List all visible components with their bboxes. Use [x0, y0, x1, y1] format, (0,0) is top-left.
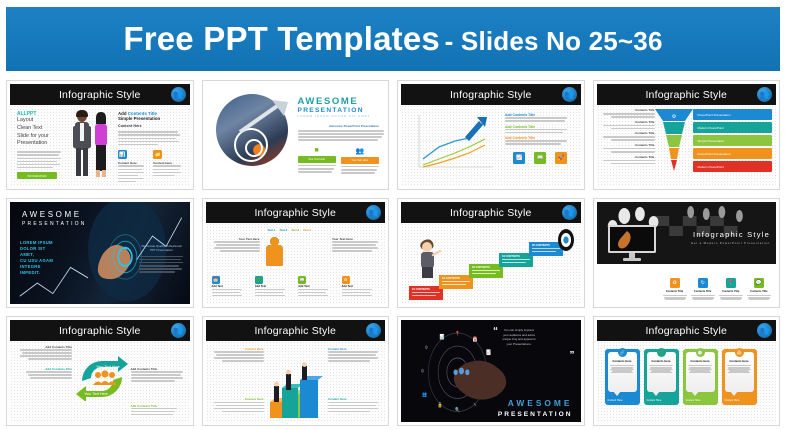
slide-title: Infographic Style	[59, 89, 141, 101]
slide5-headline-block: AWESOME PRESENTATION	[22, 210, 87, 227]
tab-text-1[interactable]: Text 1	[268, 228, 276, 232]
slide-title: Infographic Style	[450, 207, 532, 219]
slide8-subhead: Get a Modern PowerPoint Presentation	[691, 241, 770, 245]
slide5-right-block: We Create Quality Professional PPT Prese…	[139, 244, 185, 274]
slide10-label-4: Content Here	[328, 397, 380, 401]
funnel-right-label-5: Modern PowerPoint	[693, 161, 773, 172]
slide-title: Infographic Style	[254, 207, 336, 219]
tab-text-2[interactable]: Text 2	[279, 228, 287, 232]
book-icon[interactable]: 📖	[534, 152, 546, 164]
slide8-tile-label-4: Contents Title	[747, 290, 771, 294]
gear-icon: ⚙	[342, 276, 350, 284]
svg-text:🔍: 🔍	[455, 406, 460, 414]
slide10-label-block-3: Content Here	[212, 397, 264, 414]
quote-close-icon: ”	[570, 350, 575, 361]
slide-thumbnail-2[interactable]: AWESOME PRESENTATION LOREM IPSUM DOLOR S…	[202, 80, 390, 190]
svg-text:👥: 👥	[422, 391, 427, 398]
people-badge-icon: 👥	[171, 323, 186, 338]
slide9-top-left-block: Add Contents Title	[18, 345, 72, 362]
slide9-bottom-block: Add Contents Title	[131, 404, 185, 417]
slide-thumbnail-10[interactable]: Infographic Style 👥 Content Here Content…	[202, 316, 390, 426]
recycle-icon: ♻	[670, 278, 680, 288]
slide8-tile-1[interactable]: ♻ Contents Title	[663, 278, 687, 300]
step-banner-2: 02 CONTENTS	[439, 275, 473, 289]
slide-title-bar: Infographic Style 👥	[10, 84, 190, 105]
slide-thumbnail-5[interactable]: AWESOME PRESENTATION LOREM IPSUMDOLOR SI…	[6, 198, 194, 308]
page-title-sub: - Slides No 25~36	[445, 26, 663, 56]
rocket-icon[interactable]: 🚀	[555, 152, 567, 164]
people-icon: 👥	[341, 147, 379, 155]
people-illustration	[68, 108, 114, 184]
slide5-headline: AWESOME	[22, 210, 87, 219]
slide5-subhead: PRESENTATION	[22, 221, 87, 227]
folder-icon: 📁	[153, 150, 162, 159]
page-title-main: Free PPT Templates	[123, 20, 440, 57]
slide8-tile-label-1: Contents Title	[663, 290, 687, 294]
slide12-card-footer-3: Content Here	[686, 399, 701, 402]
slide6-tabs: Text 1 Text 2 Text 3 Text 4	[268, 228, 312, 232]
slide-title-bar: Infographic Style 👥	[597, 84, 777, 105]
line-chart-growth	[409, 111, 497, 177]
link-icon: 🔗	[618, 348, 627, 357]
funnel-right-label-3: Simple Presentation	[693, 135, 773, 146]
slide-title-bar: Infographic Style 👥	[206, 320, 386, 341]
slide12-card-title-4: Contents Here	[725, 360, 754, 364]
step-banner-1: 01 CONTENTS	[409, 286, 443, 300]
business-people-on-3d-bars	[264, 362, 326, 420]
slide2-button-2[interactable]: Your Text Here	[341, 157, 379, 164]
svg-text:📅: 📅	[473, 335, 478, 342]
slide-title-bar: Infographic Style 👥	[401, 202, 581, 223]
hand-pointing-photo: AWESOME PRESENTATION LOREM IPSUMDOLOR SI…	[10, 202, 190, 304]
bar-chart-icon[interactable]: 📈	[513, 152, 525, 164]
printer-icon: 🖨	[735, 348, 744, 357]
slide8-tile-4[interactable]: 💬 Contents Title	[747, 278, 771, 300]
cycle-arrows-diagram: Your Text Here Your Text Here	[74, 355, 130, 401]
slide11-quote: You can simply impress your audience and…	[501, 328, 537, 347]
slide8-tile-3[interactable]: 📍 Contents Title	[719, 278, 743, 300]
desktop-monitor-mockup	[607, 224, 657, 262]
funnel-shape: ⚙	[655, 109, 693, 171]
slide-title-bar: Infographic Style 👥	[206, 202, 386, 223]
slide6-left-block: Your Text Here	[212, 237, 260, 254]
step-banner-4: 04 CONTENTS	[499, 253, 533, 267]
slide8-headline-block: Infographic Style Get a Modern PowerPoin…	[691, 230, 770, 245]
slide12-card-title-3: Contents Here	[686, 360, 715, 364]
people-badge-icon: 👥	[366, 323, 381, 338]
slide9-mid-left-block: Add Contents Title	[18, 367, 72, 380]
speech-bubble: 🖨 Contents Here	[725, 352, 754, 392]
slide12-card-footer-1: Content Here	[608, 399, 623, 402]
slide12-card-footer-4: Content Here	[725, 399, 740, 402]
slide-thumbnail-8[interactable]: Infographic Style Get a Modern PowerPoin…	[593, 198, 781, 308]
tab-text-4[interactable]: Text 4	[303, 228, 311, 232]
slide6-right-block: Your Text Here	[332, 237, 380, 254]
slide8-headline: Infographic Style	[691, 230, 770, 239]
svg-text:🔒: 🔒	[438, 402, 443, 409]
quote-open-icon: “	[493, 326, 498, 337]
chart-icon: 📊	[118, 150, 127, 159]
slide6-card-4[interactable]: ⚙ Add Text	[342, 276, 380, 298]
svg-text:📊: 📊	[440, 333, 445, 341]
svg-text:⚙: ⚙	[425, 344, 429, 350]
refresh-icon: ↻	[698, 278, 708, 288]
slide6-card-1[interactable]: 📅 Add Text	[212, 276, 250, 298]
funnel-right-label-1: PowerPoint Presentation	[693, 109, 773, 120]
slide-title: Infographic Style	[450, 89, 532, 101]
slide10-label-block-2: Content Here	[328, 347, 380, 364]
slide10-label-block-4: Content Here	[328, 397, 380, 414]
svg-text:Your Text Here: Your Text Here	[84, 392, 108, 396]
dartboard-icon	[557, 229, 575, 255]
slide10-label-3: Content Here	[212, 397, 264, 401]
slide1-section-label: Content Here	[118, 124, 185, 129]
step-banner-3: 03 CONTENTS	[469, 264, 503, 278]
people-badge-icon: 👥	[757, 87, 772, 102]
slide-title-bar: Infographic Style 👥	[401, 84, 581, 105]
slide8-tile-2[interactable]: ↻ Contents Title	[691, 278, 715, 300]
slide1-subheading: Simple Presentation	[118, 116, 185, 121]
slide12-card-3[interactable]: 🕔 Contents Here Content Here	[683, 349, 718, 405]
page-title: Free PPT Templates - Slides No 25~36	[123, 20, 662, 58]
slide12-card-4[interactable]: 🖨 Contents Here Content Here	[722, 349, 757, 405]
slide6-card-2[interactable]: 🌿 Add Text	[255, 276, 293, 298]
slide-title: Infographic Style	[645, 89, 727, 101]
slide-title: Infographic Style	[645, 325, 727, 337]
slide-thumbnail-7[interactable]: Infographic Style 👥 01 CONTENTS	[397, 198, 585, 308]
slide2-subhead: PRESENTATION	[298, 107, 380, 114]
svg-text:✎: ✎	[474, 402, 477, 408]
pin-icon: 📍	[726, 278, 736, 288]
people-badge-icon: 👥	[562, 205, 577, 220]
slide12-card-title-1: Contents Here	[608, 360, 637, 364]
slide-thumbnail-12[interactable]: Infographic Style 👥 🔗 Contents Here Cont…	[593, 316, 781, 426]
svg-text:⚙: ⚙	[671, 114, 676, 120]
slide2-button-1[interactable]: Your Text Here	[298, 156, 336, 163]
leaf-icon: 🌿	[255, 276, 263, 284]
header-banner: Free PPT Templates - Slides No 25~36	[6, 7, 780, 71]
slide-thumbnail-3[interactable]: Infographic Style 👥 Ad	[397, 80, 585, 190]
slide6-card-3[interactable]: 📖 Add Text	[298, 276, 336, 298]
slide-title: Infographic Style	[254, 325, 336, 337]
speech-bubble: 🔗 Contents Here	[608, 352, 637, 392]
speech-bubble: 🕔 Contents Here	[686, 352, 715, 392]
people-badge-icon: 👥	[757, 323, 772, 338]
slide5-right-label: We Create Quality Professional PPT Prese…	[139, 244, 185, 253]
speech-bubble: 🌿 Contents Here	[647, 352, 676, 392]
stack-icon: ■	[298, 147, 336, 154]
slide1-left-text: ALLPPT LayoutClean TextSlide for yourPre…	[17, 111, 63, 179]
puzzle-person-4	[266, 237, 283, 267]
people-badge-icon: 👥	[171, 87, 186, 102]
slide6-cards: 📅 Add Text 🌿 Add Text 📖 Add Text	[212, 276, 381, 298]
slide8-tiles: ♻ Contents Title ↻ Contents Title 📍 Cont…	[663, 278, 772, 300]
hand-with-icon-network-photo: ⚙📊📍 📅📈⚙ 👤👥🔒 🔍✎💼 You can simply impress y…	[401, 320, 581, 422]
businessman-throwing-dart	[413, 237, 443, 279]
book-icon: 📖	[298, 276, 306, 284]
slide12-card-2[interactable]: 🌿 Contents Here Content Here	[644, 349, 679, 405]
slide2-section-label: Awesome PowerPoint Presentation	[298, 124, 380, 128]
funnel-right-label-2: Modern PowerPoint	[693, 122, 773, 133]
chat-icon: 💬	[754, 278, 764, 288]
slide-thumbnail-9[interactable]: Infographic Style 👥 Add Contents Title A…	[6, 316, 194, 426]
slide12-card-title-2: Contents Here	[647, 360, 676, 364]
slide-thumbnail-1[interactable]: Infographic Style 👥 ALLPPT LayoutClean T…	[6, 80, 194, 190]
slide11-headline: AWESOME	[508, 398, 573, 408]
slide3-items: Add Contents Title Add Contents Title Ad…	[505, 113, 576, 164]
funnel-right-label-4: PowerPoint Presentation	[693, 148, 773, 159]
slide2-tagline: LOREM IPSUM DOLOR SIT AMET	[298, 114, 380, 118]
calendar-icon: 📅	[212, 276, 220, 284]
arrow-icon	[236, 98, 290, 138]
slide5-quote: LOREM IPSUMDOLOR SITAMET,CU USU AGAMINTE…	[20, 240, 53, 277]
slide9-right-block: Add Contents Title	[131, 367, 185, 384]
people-badge-icon: 👥	[562, 87, 577, 102]
slide-grid: Infographic Style 👥 ALLPPT LayoutClean T…	[6, 80, 780, 426]
slide2-headline: AWESOME	[298, 96, 380, 107]
svg-text:📈: 📈	[486, 348, 491, 356]
slide-thumbnail-11[interactable]: ⚙📊📍 📅📈⚙ 👤👥🔒 🔍✎💼 You can simply impress y…	[397, 316, 585, 426]
slide-title-bar: Infographic Style 👥	[597, 320, 777, 341]
slide8-tile-label-2: Contents Title	[691, 290, 715, 294]
slide2-text: AWESOME PRESENTATION LOREM IPSUM DOLOR S…	[298, 96, 380, 175]
tab-text-3[interactable]: Text 3	[291, 228, 299, 232]
page-root: Free PPT Templates - Slides No 25~36 Inf…	[0, 0, 786, 430]
svg-text:Your Text Here: Your Text Here	[96, 365, 120, 369]
slide12-card-footer-2: Content Here	[647, 399, 662, 402]
svg-text:⚙: ⚙	[421, 368, 425, 374]
clock-icon: 🕔	[696, 348, 705, 357]
slide-thumbnail-6[interactable]: Infographic Style 👥 Text 1 Text 2 Text 3…	[202, 198, 390, 308]
slide-thumbnail-4[interactable]: Infographic Style 👥 Contents Title Conte…	[593, 80, 781, 190]
slide12-card-1[interactable]: 🔗 Contents Here Content Here	[605, 349, 640, 405]
slide3-item-title-2: Add Contents Title	[505, 125, 576, 129]
slide8-tile-label-3: Contents Title	[719, 290, 743, 294]
slide10-label-block-1: Content Here	[212, 347, 264, 364]
leaf-icon: 🌿	[657, 348, 666, 357]
slide11-subhead: PRESENTATION	[498, 411, 573, 418]
svg-text:📍: 📍	[455, 330, 460, 338]
slide1-right-text: Add Contents Title Simple Presentation C…	[118, 111, 185, 184]
slide-title: Infographic Style	[59, 325, 141, 337]
infographic-button[interactable]: INFOGRAPHIC	[17, 172, 57, 179]
people-badge-icon: 👥	[366, 205, 381, 220]
slide-title-bar: Infographic Style 👥	[10, 320, 190, 341]
slide1-headline: LayoutClean TextSlide for yourPresentati…	[17, 117, 63, 148]
